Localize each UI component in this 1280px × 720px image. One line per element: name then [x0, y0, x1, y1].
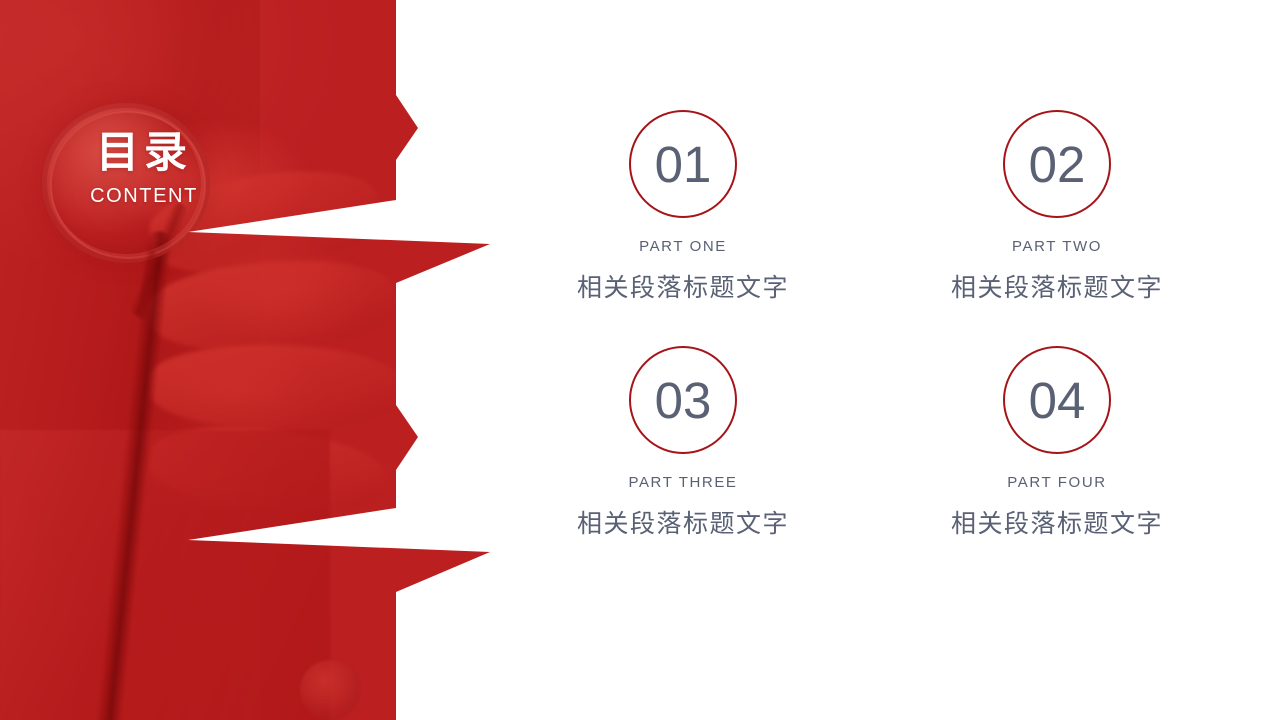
number-circle-02[interactable]: 02: [1003, 110, 1111, 218]
section-part-label: PART TWO: [1012, 238, 1102, 255]
page-subtitle: CONTENT: [6, 185, 282, 208]
number-circle-03[interactable]: 03: [629, 346, 737, 454]
section-number: 02: [1029, 139, 1086, 190]
page-title: 目录: [6, 130, 282, 176]
section-title: 相关段落标题文字: [951, 504, 1163, 540]
content-item-grid: 01 PART ONE 相关段落标题文字 02 PART TWO 相关段落标题文…: [520, 110, 1220, 540]
content-slide: 目录 CONTENT 01 PART ONE 相关段落标题文字 02 PART …: [0, 0, 1280, 720]
section-part-label: PART FOUR: [1007, 474, 1106, 491]
content-item-01[interactable]: 01 PART ONE 相关段落标题文字: [520, 110, 846, 304]
number-circle-01[interactable]: 01: [629, 110, 737, 218]
section-number: 01: [655, 139, 712, 190]
section-number: 03: [655, 375, 712, 426]
section-part-label: PART THREE: [628, 474, 737, 491]
content-item-02[interactable]: 02 PART TWO 相关段落标题文字: [894, 110, 1220, 304]
section-title: 相关段落标题文字: [951, 268, 1163, 304]
red-tint-overlay: [0, 0, 500, 720]
section-number: 04: [1029, 375, 1086, 426]
section-title: 相关段落标题文字: [577, 504, 789, 540]
section-part-label: PART ONE: [639, 238, 727, 255]
stethoscope-photo: [0, 0, 500, 720]
left-red-panel: [0, 0, 500, 720]
number-circle-04[interactable]: 04: [1003, 346, 1111, 454]
section-title: 相关段落标题文字: [577, 268, 789, 304]
content-item-03[interactable]: 03 PART THREE 相关段落标题文字: [520, 346, 846, 540]
slide-title-block: 目录 CONTENT: [0, 130, 282, 208]
content-item-04[interactable]: 04 PART FOUR 相关段落标题文字: [894, 346, 1220, 540]
